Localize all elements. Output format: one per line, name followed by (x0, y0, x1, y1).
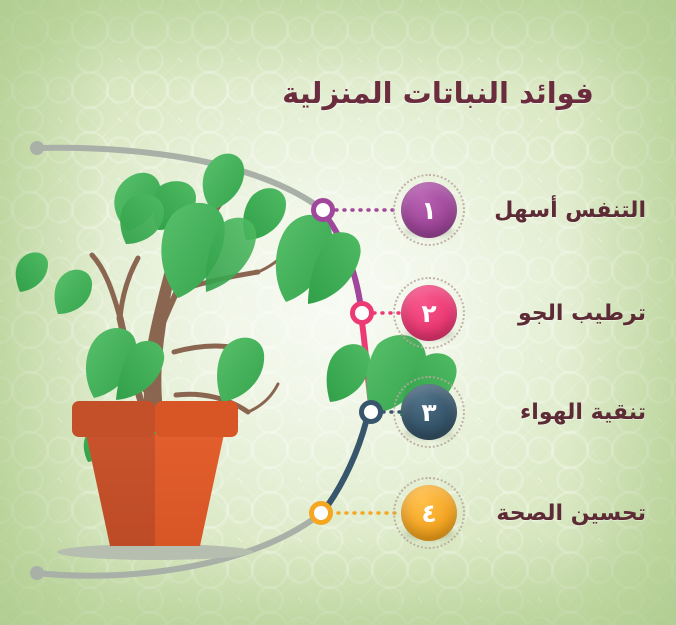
badge-number-2: ٢ (401, 285, 457, 341)
badge-number-4: ٤ (401, 485, 457, 541)
pot-rim-left (72, 401, 155, 437)
arc-node-4[interactable] (312, 504, 331, 523)
pot-body-right (155, 434, 224, 546)
badge-wrapper-4: ٤ (392, 476, 466, 550)
arc-node-2[interactable] (353, 304, 372, 323)
flower-pot (57, 401, 253, 560)
plant-illustration (16, 154, 457, 512)
leaf (16, 252, 48, 292)
benefit-label-3: تنقية الهواء (466, 400, 662, 425)
arc-node-1[interactable] (314, 201, 333, 220)
benefit-item-1[interactable]: ١ التنفس أسهل (392, 173, 662, 247)
benefit-item-2[interactable]: ٢ ترطيب الجو (392, 276, 662, 350)
benefit-label-2: ترطيب الجو (466, 301, 662, 326)
badge-wrapper-1: ١ (392, 173, 466, 247)
badge-wrapper-2: ٢ (392, 276, 466, 350)
pot-body-left (86, 434, 155, 546)
arc-segment-slate (328, 422, 366, 505)
badge-wrapper-3: ٣ (392, 375, 466, 449)
pot-rim-right (155, 401, 238, 437)
leaf (327, 344, 370, 402)
arc-endpoint-bottom (30, 566, 44, 580)
badge-number-3: ٣ (401, 384, 457, 440)
infographic-canvas: فوائد النباتات المنزلية ١ التنفس أسهل ٢ … (0, 0, 676, 625)
benefit-label-4: تحسين الصحة (466, 501, 662, 526)
benefit-item-4[interactable]: ٤ تحسين الصحة (392, 476, 662, 550)
benefit-item-3[interactable]: ٣ تنقية الهواء (392, 375, 662, 449)
arc-endpoint-top (30, 141, 44, 155)
pot-ground-shadow (57, 544, 253, 560)
benefit-label-1: التنفس أسهل (466, 198, 662, 223)
page-title: فوائد النباتات المنزلية (228, 76, 648, 110)
leaf (55, 270, 92, 314)
badge-number-1: ١ (401, 182, 457, 238)
arc-node-3[interactable] (362, 403, 381, 422)
leaf (120, 194, 164, 244)
